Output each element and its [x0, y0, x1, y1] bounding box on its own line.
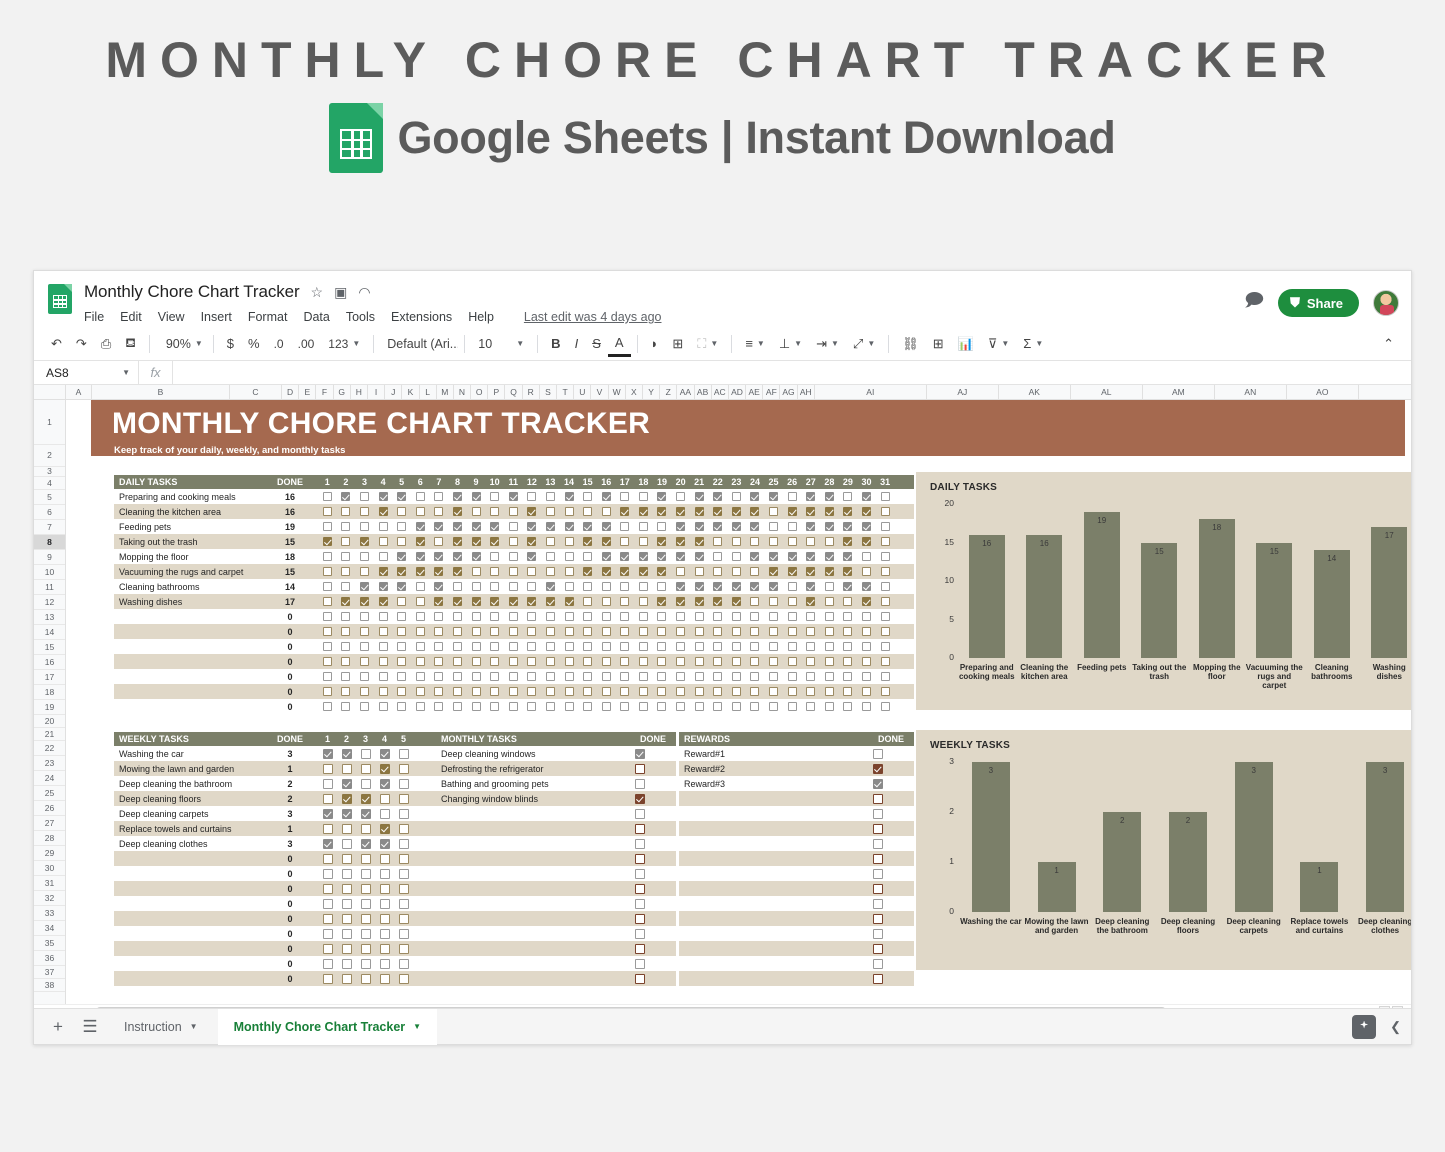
column-header-E[interactable]: E	[299, 385, 316, 399]
checkbox-unchecked[interactable]	[416, 642, 425, 651]
checkbox-unchecked[interactable]	[769, 597, 778, 606]
checkbox-unchecked[interactable]	[843, 492, 852, 501]
checkbox-unchecked[interactable]	[341, 657, 350, 666]
checkbox-unchecked[interactable]	[509, 702, 518, 711]
checkbox-unchecked[interactable]	[380, 944, 390, 954]
row-header-32[interactable]: 32	[34, 891, 65, 906]
checkbox-checked[interactable]	[565, 597, 574, 606]
checkbox-unchecked[interactable]	[620, 687, 629, 696]
checkbox-checked[interactable]	[490, 522, 499, 531]
row-header-10[interactable]: 10	[34, 565, 65, 580]
row-header-33[interactable]: 33	[34, 906, 65, 921]
checkbox-checked[interactable]	[546, 582, 555, 591]
checkbox-unchecked[interactable]	[881, 492, 890, 501]
insert-link-icon[interactable]: ⛓	[895, 331, 926, 357]
checkbox-unchecked[interactable]	[397, 612, 406, 621]
checkbox-checked[interactable]	[806, 507, 815, 516]
checkbox-unchecked[interactable]	[769, 612, 778, 621]
checkbox-unchecked[interactable]	[323, 779, 333, 789]
row-header-11[interactable]: 11	[34, 580, 65, 595]
checkbox-unchecked[interactable]	[713, 567, 722, 576]
checkbox-unchecked[interactable]	[360, 687, 369, 696]
checkbox-unchecked[interactable]	[806, 537, 815, 546]
checkbox-unchecked[interactable]	[323, 794, 333, 804]
checkbox-checked[interactable]	[873, 764, 883, 774]
checkbox-unchecked[interactable]	[769, 702, 778, 711]
checkbox-unchecked[interactable]	[620, 642, 629, 651]
currency-format-button[interactable]: $	[220, 331, 241, 357]
checkbox-unchecked[interactable]	[695, 657, 704, 666]
checkbox-unchecked[interactable]	[750, 537, 759, 546]
checkbox-checked[interactable]	[472, 537, 481, 546]
checkbox-checked[interactable]	[843, 567, 852, 576]
checkbox-unchecked[interactable]	[323, 884, 333, 894]
checkbox-unchecked[interactable]	[881, 612, 890, 621]
checkbox-unchecked[interactable]	[873, 809, 883, 819]
column-header-AB[interactable]: AB	[695, 385, 712, 399]
checkbox-unchecked[interactable]	[881, 672, 890, 681]
checkbox-checked[interactable]	[732, 582, 741, 591]
checkbox-unchecked[interactable]	[750, 687, 759, 696]
checkbox-unchecked[interactable]	[379, 672, 388, 681]
checkbox-checked[interactable]	[397, 567, 406, 576]
checkbox-checked[interactable]	[397, 492, 406, 501]
star-icon[interactable]: ☆	[311, 285, 324, 299]
checkbox-unchecked[interactable]	[472, 672, 481, 681]
checkbox-unchecked[interactable]	[635, 929, 645, 939]
checkbox-checked[interactable]	[527, 537, 536, 546]
checkbox-checked[interactable]	[527, 522, 536, 531]
checkbox-unchecked[interactable]	[565, 612, 574, 621]
row-header-8[interactable]: 8	[34, 535, 65, 550]
checkbox-unchecked[interactable]	[620, 672, 629, 681]
checkbox-checked[interactable]	[732, 522, 741, 531]
checkbox-unchecked[interactable]	[509, 507, 518, 516]
checkbox-unchecked[interactable]	[635, 974, 645, 984]
checkbox-checked[interactable]	[380, 749, 390, 759]
checkbox-unchecked[interactable]	[342, 869, 352, 879]
checkbox-unchecked[interactable]	[380, 884, 390, 894]
checkbox-unchecked[interactable]	[323, 567, 332, 576]
checkbox-checked[interactable]	[657, 597, 666, 606]
checkbox-unchecked[interactable]	[361, 764, 371, 774]
checkbox-unchecked[interactable]	[341, 567, 350, 576]
checkbox-unchecked[interactable]	[546, 657, 555, 666]
checkbox-unchecked[interactable]	[639, 642, 648, 651]
checkbox-unchecked[interactable]	[825, 657, 834, 666]
checkbox-unchecked[interactable]	[862, 552, 871, 561]
checkbox-unchecked[interactable]	[490, 687, 499, 696]
functions-sigma-icon[interactable]: Σ▼	[1016, 331, 1050, 357]
name-box[interactable]: AS8▼	[34, 361, 139, 384]
checkbox-unchecked[interactable]	[881, 567, 890, 576]
checkbox-unchecked[interactable]	[676, 657, 685, 666]
checkbox-checked[interactable]	[695, 552, 704, 561]
checkbox-checked[interactable]	[639, 567, 648, 576]
checkbox-checked[interactable]	[676, 552, 685, 561]
checkbox-unchecked[interactable]	[881, 642, 890, 651]
checkbox-unchecked[interactable]	[676, 702, 685, 711]
checkbox-unchecked[interactable]	[788, 642, 797, 651]
checkbox-unchecked[interactable]	[583, 702, 592, 711]
checkbox-unchecked[interactable]	[453, 657, 462, 666]
add-sheet-icon[interactable]: +	[44, 1013, 72, 1041]
checkbox-unchecked[interactable]	[873, 884, 883, 894]
column-header-W[interactable]: W	[609, 385, 626, 399]
checkbox-unchecked[interactable]	[750, 627, 759, 636]
number-format-button[interactable]: 123▼	[321, 331, 367, 357]
checkbox-unchecked[interactable]	[620, 612, 629, 621]
column-header-R[interactable]: R	[523, 385, 540, 399]
all-sheets-icon[interactable]: ☰	[76, 1013, 104, 1041]
checkbox-unchecked[interactable]	[620, 627, 629, 636]
checkbox-unchecked[interactable]	[788, 702, 797, 711]
column-header-P[interactable]: P	[488, 385, 505, 399]
checkbox-unchecked[interactable]	[527, 492, 536, 501]
checkbox-unchecked[interactable]	[713, 627, 722, 636]
checkbox-unchecked[interactable]	[323, 854, 333, 864]
checkbox-unchecked[interactable]	[565, 672, 574, 681]
checkbox-unchecked[interactable]	[635, 914, 645, 924]
checkbox-checked[interactable]	[676, 537, 685, 546]
checkbox-unchecked[interactable]	[527, 702, 536, 711]
checkbox-unchecked[interactable]	[342, 929, 352, 939]
checkbox-unchecked[interactable]	[676, 672, 685, 681]
row-header-19[interactable]: 19	[34, 700, 65, 715]
checkbox-unchecked[interactable]	[862, 612, 871, 621]
checkbox-checked[interactable]	[583, 567, 592, 576]
checkbox-unchecked[interactable]	[453, 642, 462, 651]
checkbox-checked[interactable]	[509, 597, 518, 606]
checkbox-unchecked[interactable]	[472, 642, 481, 651]
checkbox-unchecked[interactable]	[341, 672, 350, 681]
checkbox-unchecked[interactable]	[732, 627, 741, 636]
checkbox-unchecked[interactable]	[620, 702, 629, 711]
checkbox-unchecked[interactable]	[509, 522, 518, 531]
checkbox-unchecked[interactable]	[380, 869, 390, 879]
checkbox-checked[interactable]	[453, 537, 462, 546]
scroll-left-arrow-icon[interactable]: ◀	[1379, 1006, 1390, 1009]
checkbox-unchecked[interactable]	[416, 612, 425, 621]
filter-icon[interactable]: ⊽▼	[981, 331, 1016, 357]
checkbox-unchecked[interactable]	[361, 974, 371, 984]
checkbox-unchecked[interactable]	[732, 642, 741, 651]
checkbox-unchecked[interactable]	[843, 612, 852, 621]
checkbox-unchecked[interactable]	[873, 959, 883, 969]
checkbox-checked[interactable]	[695, 597, 704, 606]
checkbox-unchecked[interactable]	[490, 567, 499, 576]
checkbox-unchecked[interactable]	[323, 582, 332, 591]
checkbox-unchecked[interactable]	[527, 567, 536, 576]
checkbox-unchecked[interactable]	[639, 687, 648, 696]
checkbox-unchecked[interactable]	[862, 567, 871, 576]
decrease-decimal-button[interactable]: .0	[267, 331, 291, 357]
checkbox-unchecked[interactable]	[583, 597, 592, 606]
checkbox-unchecked[interactable]	[360, 567, 369, 576]
checkbox-unchecked[interactable]	[657, 642, 666, 651]
row-header-15[interactable]: 15	[34, 640, 65, 655]
checkbox-checked[interactable]	[380, 824, 390, 834]
sheet-tab-monthly-chore-chart-tracker[interactable]: Monthly Chore Chart Tracker ▼	[218, 1009, 438, 1045]
checkbox-unchecked[interactable]	[843, 702, 852, 711]
column-header-S[interactable]: S	[540, 385, 557, 399]
checkbox-unchecked[interactable]	[361, 869, 371, 879]
checkbox-unchecked[interactable]	[635, 869, 645, 879]
checkbox-unchecked[interactable]	[788, 672, 797, 681]
checkbox-checked[interactable]	[695, 537, 704, 546]
checkbox-checked[interactable]	[713, 492, 722, 501]
checkbox-unchecked[interactable]	[341, 537, 350, 546]
checkbox-unchecked[interactable]	[843, 657, 852, 666]
checkbox-unchecked[interactable]	[546, 612, 555, 621]
borders-icon[interactable]: ⊞	[665, 331, 690, 357]
checkbox-unchecked[interactable]	[527, 657, 536, 666]
column-header-T[interactable]: T	[557, 385, 574, 399]
row-header-7[interactable]: 7	[34, 520, 65, 535]
select-all-corner[interactable]	[34, 385, 66, 399]
checkbox-unchecked[interactable]	[769, 642, 778, 651]
checkbox-checked[interactable]	[379, 492, 388, 501]
checkbox-checked[interactable]	[583, 522, 592, 531]
checkbox-unchecked[interactable]	[635, 764, 645, 774]
checkbox-unchecked[interactable]	[750, 597, 759, 606]
column-header-N[interactable]: N	[454, 385, 471, 399]
checkbox-unchecked[interactable]	[881, 627, 890, 636]
vertical-align-icon[interactable]: ⊥▼	[772, 331, 809, 357]
checkbox-unchecked[interactable]	[713, 702, 722, 711]
row-header-5[interactable]: 5	[34, 490, 65, 505]
insert-chart-icon[interactable]: 📊	[951, 331, 981, 357]
checkbox-unchecked[interactable]	[639, 612, 648, 621]
row-header-4[interactable]: 4	[34, 477, 65, 490]
checkbox-checked[interactable]	[635, 794, 645, 804]
checkbox-unchecked[interactable]	[397, 627, 406, 636]
checkbox-checked[interactable]	[825, 567, 834, 576]
checkbox-unchecked[interactable]	[825, 672, 834, 681]
checkbox-checked[interactable]	[732, 597, 741, 606]
checkbox-unchecked[interactable]	[676, 492, 685, 501]
checkbox-checked[interactable]	[323, 749, 333, 759]
checkbox-unchecked[interactable]	[769, 672, 778, 681]
checkbox-checked[interactable]	[416, 552, 425, 561]
row-header-26[interactable]: 26	[34, 801, 65, 816]
checkbox-unchecked[interactable]	[490, 642, 499, 651]
checkbox-unchecked[interactable]	[434, 642, 443, 651]
menu-view[interactable]: View	[158, 310, 185, 324]
checkbox-unchecked[interactable]	[750, 567, 759, 576]
checkbox-unchecked[interactable]	[527, 582, 536, 591]
checkbox-unchecked[interactable]	[602, 582, 611, 591]
checkbox-unchecked[interactable]	[379, 537, 388, 546]
print-icon[interactable]: ⎙	[94, 331, 118, 357]
checkbox-unchecked[interactable]	[788, 687, 797, 696]
checkbox-unchecked[interactable]	[583, 657, 592, 666]
checkbox-unchecked[interactable]	[825, 627, 834, 636]
checkbox-unchecked[interactable]	[360, 612, 369, 621]
checkbox-unchecked[interactable]	[342, 974, 352, 984]
checkbox-checked[interactable]	[639, 552, 648, 561]
checkbox-unchecked[interactable]	[620, 492, 629, 501]
column-header-I[interactable]: I	[368, 385, 385, 399]
checkbox-unchecked[interactable]	[657, 627, 666, 636]
checkbox-unchecked[interactable]	[695, 627, 704, 636]
column-header-G[interactable]: G	[334, 385, 351, 399]
checkbox-unchecked[interactable]	[565, 507, 574, 516]
checkbox-unchecked[interactable]	[788, 597, 797, 606]
checkbox-unchecked[interactable]	[453, 672, 462, 681]
checkbox-checked[interactable]	[732, 507, 741, 516]
checkbox-checked[interactable]	[323, 809, 333, 819]
checkbox-unchecked[interactable]	[825, 582, 834, 591]
checkbox-checked[interactable]	[472, 597, 481, 606]
menu-insert[interactable]: Insert	[201, 310, 232, 324]
checkbox-unchecked[interactable]	[695, 687, 704, 696]
checkbox-unchecked[interactable]	[635, 824, 645, 834]
checkbox-unchecked[interactable]	[380, 809, 390, 819]
column-header-F[interactable]: F	[316, 385, 333, 399]
column-header-H[interactable]: H	[351, 385, 368, 399]
checkbox-unchecked[interactable]	[434, 627, 443, 636]
checkbox-unchecked[interactable]	[676, 567, 685, 576]
checkbox-unchecked[interactable]	[769, 657, 778, 666]
checkbox-unchecked[interactable]	[806, 672, 815, 681]
checkbox-checked[interactable]	[676, 582, 685, 591]
checkbox-unchecked[interactable]	[342, 839, 352, 849]
checkbox-unchecked[interactable]	[602, 702, 611, 711]
checkbox-unchecked[interactable]	[546, 507, 555, 516]
checkbox-unchecked[interactable]	[825, 597, 834, 606]
text-rotation-icon[interactable]: ⤢▼	[846, 331, 882, 357]
checkbox-unchecked[interactable]	[490, 612, 499, 621]
checkbox-unchecked[interactable]	[527, 642, 536, 651]
checkbox-unchecked[interactable]	[416, 687, 425, 696]
checkbox-unchecked[interactable]	[620, 582, 629, 591]
checkbox-unchecked[interactable]	[416, 597, 425, 606]
checkbox-checked[interactable]	[602, 492, 611, 501]
checkbox-unchecked[interactable]	[873, 839, 883, 849]
checkbox-unchecked[interactable]	[732, 537, 741, 546]
checkbox-checked[interactable]	[843, 537, 852, 546]
checkbox-checked[interactable]	[380, 764, 390, 774]
checkbox-unchecked[interactable]	[695, 642, 704, 651]
checkbox-unchecked[interactable]	[873, 899, 883, 909]
checkbox-unchecked[interactable]	[342, 824, 352, 834]
checkbox-checked[interactable]	[695, 582, 704, 591]
checkbox-unchecked[interactable]	[881, 702, 890, 711]
checkbox-checked[interactable]	[769, 567, 778, 576]
checkbox-unchecked[interactable]	[713, 642, 722, 651]
collapse-panel-icon[interactable]: ❮	[1390, 1019, 1401, 1035]
checkbox-unchecked[interactable]	[399, 884, 409, 894]
checkbox-checked[interactable]	[360, 597, 369, 606]
checkbox-unchecked[interactable]	[397, 657, 406, 666]
checkbox-checked[interactable]	[769, 582, 778, 591]
italic-button[interactable]: I	[568, 331, 586, 357]
redo-icon[interactable]: ↷	[69, 331, 94, 357]
checkbox-unchecked[interactable]	[360, 642, 369, 651]
checkbox-unchecked[interactable]	[565, 642, 574, 651]
checkbox-unchecked[interactable]	[788, 537, 797, 546]
checkbox-unchecked[interactable]	[639, 582, 648, 591]
checkbox-checked[interactable]	[806, 567, 815, 576]
checkbox-unchecked[interactable]	[399, 764, 409, 774]
row-header-22[interactable]: 22	[34, 741, 65, 756]
checkbox-checked[interactable]	[416, 522, 425, 531]
row-header-34[interactable]: 34	[34, 921, 65, 936]
checkbox-unchecked[interactable]	[361, 914, 371, 924]
column-header-J[interactable]: J	[385, 385, 402, 399]
column-header-AC[interactable]: AC	[712, 385, 729, 399]
checkbox-unchecked[interactable]	[509, 537, 518, 546]
checkbox-unchecked[interactable]	[509, 582, 518, 591]
checkbox-checked[interactable]	[825, 522, 834, 531]
row-header-17[interactable]: 17	[34, 670, 65, 685]
row-header-23[interactable]: 23	[34, 756, 65, 771]
checkbox-checked[interactable]	[490, 597, 499, 606]
checkbox-unchecked[interactable]	[490, 657, 499, 666]
checkbox-checked[interactable]	[380, 779, 390, 789]
checkbox-unchecked[interactable]	[546, 672, 555, 681]
checkbox-unchecked[interactable]	[397, 597, 406, 606]
checkbox-unchecked[interactable]	[565, 567, 574, 576]
checkbox-unchecked[interactable]	[635, 779, 645, 789]
column-header-AO[interactable]: AO	[1287, 385, 1359, 399]
text-wrap-icon[interactable]: ⇥▼	[809, 331, 846, 357]
checkbox-unchecked[interactable]	[639, 672, 648, 681]
checkbox-unchecked[interactable]	[713, 687, 722, 696]
checkbox-unchecked[interactable]	[676, 627, 685, 636]
checkbox-unchecked[interactable]	[635, 959, 645, 969]
checkbox-checked[interactable]	[546, 522, 555, 531]
checkbox-unchecked[interactable]	[472, 627, 481, 636]
checkbox-unchecked[interactable]	[732, 687, 741, 696]
checkbox-unchecked[interactable]	[873, 929, 883, 939]
checkbox-unchecked[interactable]	[490, 627, 499, 636]
checkbox-checked[interactable]	[750, 492, 759, 501]
checkbox-unchecked[interactable]	[323, 824, 333, 834]
checkbox-checked[interactable]	[713, 597, 722, 606]
checkbox-unchecked[interactable]	[397, 687, 406, 696]
checkbox-unchecked[interactable]	[380, 959, 390, 969]
checkbox-unchecked[interactable]	[379, 552, 388, 561]
checkbox-unchecked[interactable]	[360, 672, 369, 681]
checkbox-unchecked[interactable]	[380, 914, 390, 924]
column-header-AK[interactable]: AK	[999, 385, 1071, 399]
checkbox-unchecked[interactable]	[399, 854, 409, 864]
checkbox-checked[interactable]	[342, 779, 352, 789]
checkbox-unchecked[interactable]	[399, 929, 409, 939]
checkbox-unchecked[interactable]	[323, 764, 333, 774]
checkbox-unchecked[interactable]	[602, 657, 611, 666]
checkbox-unchecked[interactable]	[732, 492, 741, 501]
checkbox-unchecked[interactable]	[342, 884, 352, 894]
checkbox-unchecked[interactable]	[546, 702, 555, 711]
checkbox-unchecked[interactable]	[341, 642, 350, 651]
checkbox-unchecked[interactable]	[399, 794, 409, 804]
checkbox-unchecked[interactable]	[843, 642, 852, 651]
column-header-AG[interactable]: AG	[780, 385, 797, 399]
checkbox-unchecked[interactable]	[750, 612, 759, 621]
checkbox-unchecked[interactable]	[788, 582, 797, 591]
checkbox-unchecked[interactable]	[602, 597, 611, 606]
checkbox-unchecked[interactable]	[380, 854, 390, 864]
checkbox-unchecked[interactable]	[380, 974, 390, 984]
checkbox-checked[interactable]	[862, 492, 871, 501]
checkbox-unchecked[interactable]	[379, 612, 388, 621]
checkbox-unchecked[interactable]	[583, 642, 592, 651]
checkbox-unchecked[interactable]	[788, 522, 797, 531]
checkbox-unchecked[interactable]	[379, 642, 388, 651]
